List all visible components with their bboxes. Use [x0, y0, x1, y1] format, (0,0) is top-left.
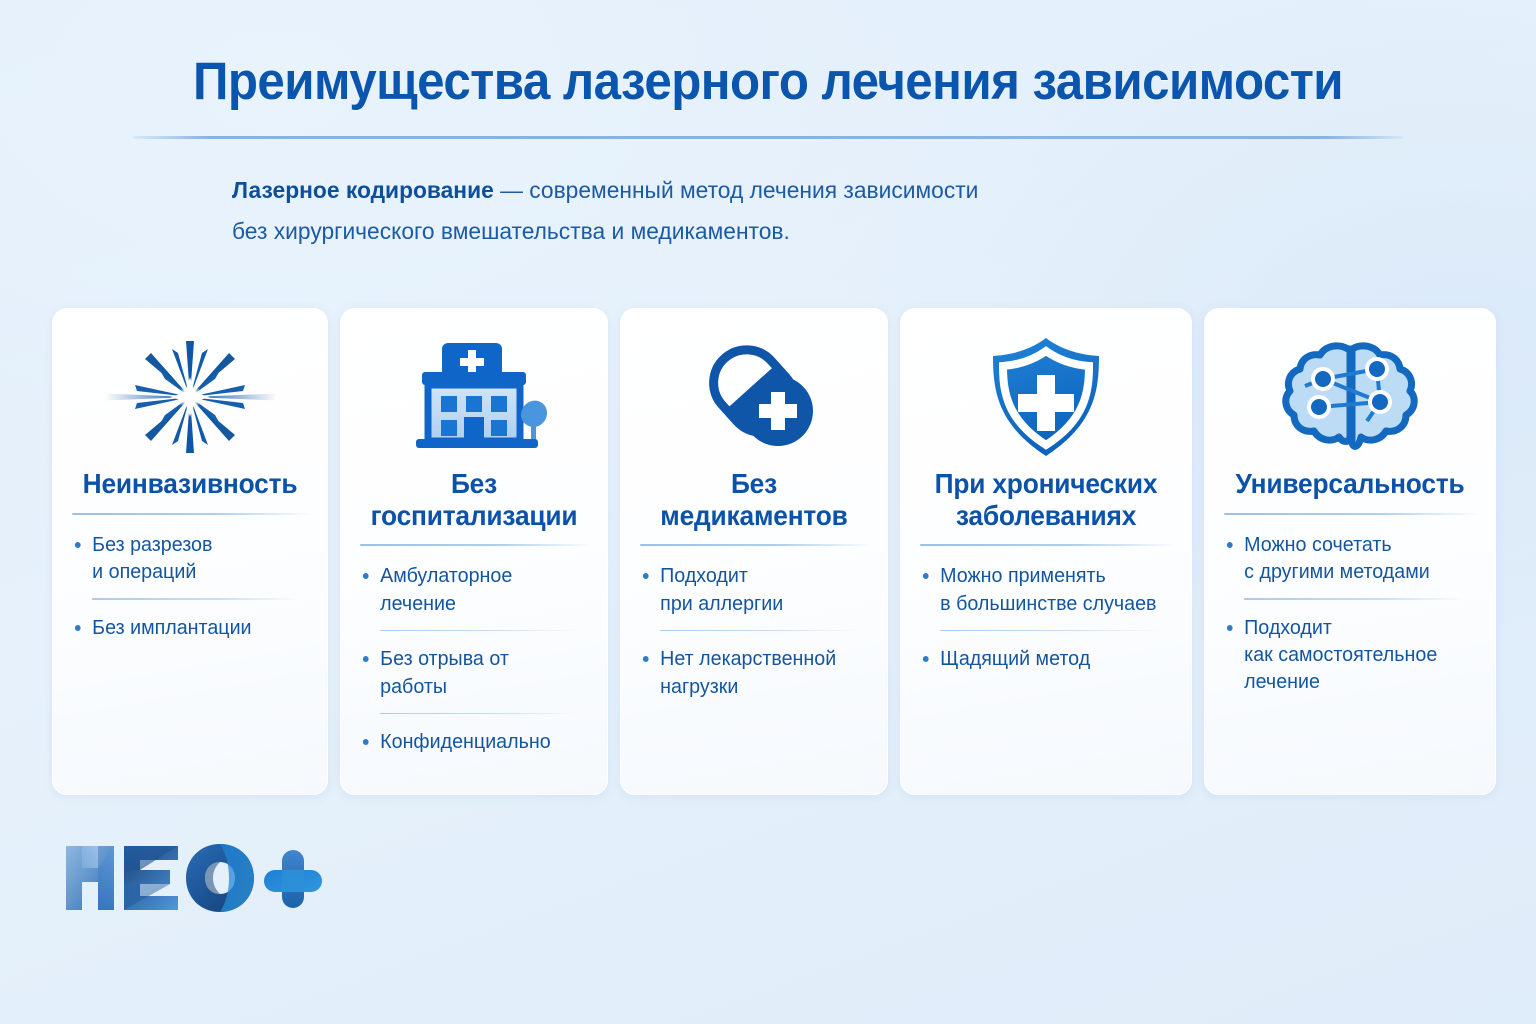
brain-network-icon — [1224, 334, 1476, 460]
list-item: Можно применятьв большинстве случаев — [920, 562, 1162, 617]
list-item: Подходитпри аллергии — [640, 562, 859, 617]
benefit-list: Подходитпри аллергии Нет лекарственнойна… — [640, 562, 868, 700]
card-title: Универсальность — [1232, 468, 1469, 500]
list-item: Конфиденциально — [360, 728, 579, 755]
list-item: Без имплантации — [72, 614, 299, 641]
card-title: При хроническихзаболеваниях — [928, 468, 1165, 531]
card-title: Без медикаментов — [647, 468, 861, 531]
card-title-divider — [72, 513, 308, 515]
list-divider-holder — [360, 630, 579, 632]
benefit-list: Без разрезови операций Без имплантации — [72, 531, 308, 641]
neo-plus-logo[interactable] — [60, 836, 330, 920]
list-divider — [1244, 598, 1466, 600]
bullet-dot — [75, 542, 81, 548]
list-item-text: Без имплантации — [92, 616, 251, 639]
card-title-divider — [920, 544, 1172, 546]
subtitle-rest: — современный метод лечения зависимости — [494, 177, 979, 203]
list-divider-holder — [72, 598, 299, 600]
benefit-card-noninvasive[interactable]: Неинвазивность Без разрезови операций Бе… — [52, 308, 328, 795]
shield-cross-icon — [920, 334, 1172, 460]
card-title-divider — [1224, 513, 1476, 515]
bullet-dot — [1227, 542, 1233, 548]
subtitle-lead: Лазерное кодирование — [232, 177, 494, 203]
benefit-card-chronic-conditions[interactable]: При хроническихзаболеваниях Можно примен… — [900, 308, 1192, 795]
list-item: Щадящий метод — [920, 645, 1162, 672]
subtitle-text: Лазерное кодирование — современный метод… — [232, 170, 1163, 251]
title-divider — [133, 136, 1403, 139]
list-divider — [380, 630, 579, 632]
list-item-text: Амбулаторноелечение — [380, 564, 512, 614]
list-item: Подходиткак самостоятельноелечение — [1224, 614, 1466, 696]
benefit-cards-row: Неинвазивность Без разрезови операций Бе… — [52, 308, 1484, 795]
list-divider-holder — [920, 630, 1162, 632]
list-item-text: Можно сочетатьс другими методами — [1244, 533, 1430, 583]
list-item: Амбулаторноелечение — [360, 562, 579, 617]
list-item-text: Без разрезови операций — [92, 533, 212, 583]
list-item: Без отрыва от работы — [360, 645, 579, 700]
laser-burst-icon — [72, 334, 308, 460]
bullet-dot — [363, 573, 369, 579]
benefit-list: Амбулаторноелечение Без отрыва от работы… — [360, 562, 588, 755]
pill-capsule-cross-icon — [640, 334, 868, 460]
list-item: Нет лекарственнойнагрузки — [640, 645, 859, 700]
bullet-dot — [75, 625, 81, 631]
page-title: Преимущества лазерного лечения зависимос… — [54, 54, 1482, 109]
hospital-building-icon — [360, 334, 588, 460]
bullet-dot — [363, 656, 369, 662]
list-divider-holder — [1224, 598, 1466, 600]
list-item: Без разрезови операций — [72, 531, 299, 586]
card-title-divider — [360, 544, 588, 546]
list-item-text: Без отрыва от работы — [380, 647, 509, 697]
list-item-text: Можно применятьв большинстве случаев — [940, 564, 1156, 614]
benefit-list: Можно сочетатьс другими методами Подходи… — [1224, 531, 1476, 696]
bullet-dot — [923, 573, 929, 579]
list-divider-holder — [360, 713, 579, 715]
list-divider — [380, 713, 579, 715]
card-title: Без госпитализации — [367, 468, 581, 531]
bullet-dot — [363, 739, 369, 745]
list-divider — [660, 630, 859, 632]
list-item-text: Конфиденциально — [380, 730, 551, 753]
list-divider-holder — [640, 630, 859, 632]
list-item-text: Щадящий метод — [940, 647, 1090, 670]
benefit-card-versatility[interactable]: Универсальность Можно сочетатьс другими … — [1204, 308, 1496, 795]
list-item: Можно сочетатьс другими методами — [1224, 531, 1466, 586]
benefit-card-no-medication[interactable]: Без медикаментов Подходитпри аллергии Не… — [620, 308, 888, 795]
benefit-list: Можно применятьв большинстве случаев Щад… — [920, 562, 1172, 672]
poster-header: Преимущества лазерного лечения зависимос… — [0, 0, 1536, 139]
bullet-dot — [643, 573, 649, 579]
subtitle-line2: без хирургического вмешательства и медик… — [232, 211, 1163, 252]
list-divider — [940, 630, 1162, 632]
benefit-card-no-hospitalization[interactable]: Без госпитализации Амбулаторноелечение Б… — [340, 308, 608, 795]
infographic-poster: Преимущества лазерного лечения зависимос… — [0, 0, 1536, 1024]
list-divider — [92, 598, 298, 600]
bullet-dot — [1227, 625, 1233, 631]
bullet-dot — [643, 656, 649, 662]
bullet-dot — [923, 656, 929, 662]
card-title: Неинвазивность — [79, 468, 301, 500]
list-item-text: Подходиткак самостоятельноелечение — [1244, 616, 1437, 694]
list-item-text: Нет лекарственнойнагрузки — [660, 647, 836, 697]
list-item-text: Подходитпри аллергии — [660, 564, 783, 614]
card-title-divider — [640, 544, 868, 546]
